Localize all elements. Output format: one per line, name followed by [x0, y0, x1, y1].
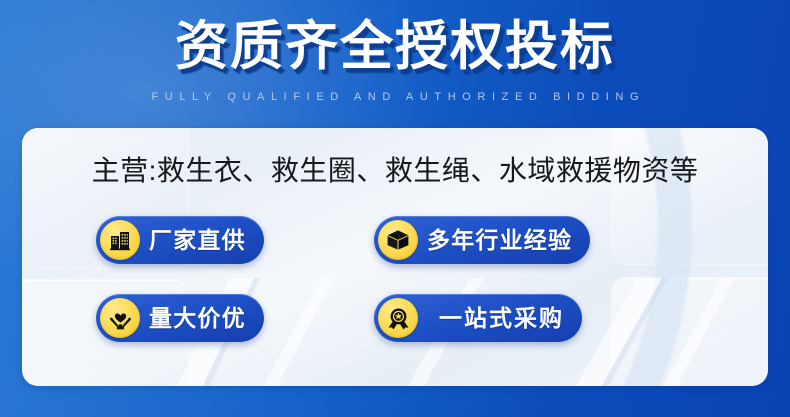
factory-building-icon	[100, 220, 140, 260]
badge-one-stop-purchasing[interactable]: 一站式采购	[374, 294, 582, 342]
cube-box-icon	[378, 220, 418, 260]
banner-title: 资质齐全授权投标	[0, 18, 790, 76]
badge-label: 多年行业经验	[427, 227, 572, 253]
hands-heart-icon	[100, 298, 140, 338]
badge-bulk-discount[interactable]: 量大价优	[96, 294, 264, 342]
product-headline: 主营:救生衣、救生圈、救生绳、水域救援物资等	[22, 154, 768, 188]
badge-years-industry-experience[interactable]: 多年行业经验	[374, 216, 590, 264]
content-card: 主营:救生衣、救生圈、救生绳、水域救援物资等	[22, 128, 768, 386]
badge-row-2: 量大价优 一站式采购	[96, 294, 716, 344]
badge-factory-direct-supply[interactable]: 厂家直供	[96, 216, 264, 264]
feature-badge-group: 厂家直供 多年行业经验	[96, 216, 716, 366]
badge-label: 量大价优	[149, 305, 246, 331]
promo-banner: 资质齐全授权投标 FULLY QUALIFIED AND AUTHORIZED …	[0, 0, 790, 417]
badge-label: 一站式采购	[427, 305, 564, 331]
badge-row-1: 厂家直供 多年行业经验	[96, 216, 716, 266]
banner-subtitle: FULLY QUALIFIED AND AUTHORIZED BIDDING	[0, 90, 790, 104]
medal-award-icon	[378, 298, 418, 338]
badge-label: 厂家直供	[149, 227, 246, 253]
banner-header: 资质齐全授权投标 FULLY QUALIFIED AND AUTHORIZED …	[0, 0, 790, 124]
